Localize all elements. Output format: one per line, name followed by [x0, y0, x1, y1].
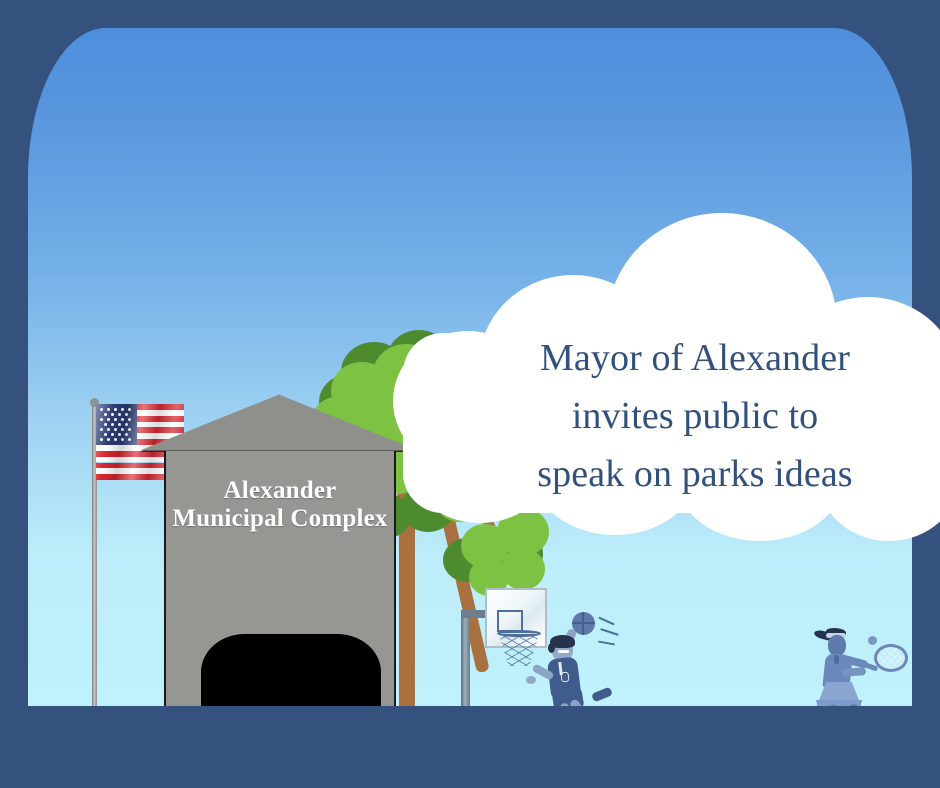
hoop-rim	[497, 630, 541, 637]
sign-line-2: Municipal Complex	[166, 505, 394, 533]
headline-line-2: invites public to	[435, 388, 940, 446]
municipal-building: Alexander Municipal Complex	[142, 396, 418, 706]
building-sign: Alexander Municipal Complex	[166, 477, 394, 533]
sign-line-1: Alexander	[166, 477, 394, 505]
headline-line-3: speak on parks ideas	[435, 446, 940, 504]
backboard-square	[497, 610, 523, 632]
basketball-player-icon	[536, 610, 622, 706]
headline: Mayor of Alexander invites public to spe…	[435, 330, 940, 503]
hoop-net	[499, 634, 539, 666]
building-wall: Alexander Municipal Complex	[164, 451, 396, 706]
poster-canvas: Alexander Municipal Complex	[0, 0, 940, 788]
flag-canton	[96, 404, 137, 445]
building-doorway	[201, 634, 381, 706]
tennis-player-icon	[804, 622, 904, 706]
hoop-pole	[461, 610, 470, 706]
headline-line-1: Mayor of Alexander	[435, 330, 940, 388]
roof	[140, 395, 418, 451]
